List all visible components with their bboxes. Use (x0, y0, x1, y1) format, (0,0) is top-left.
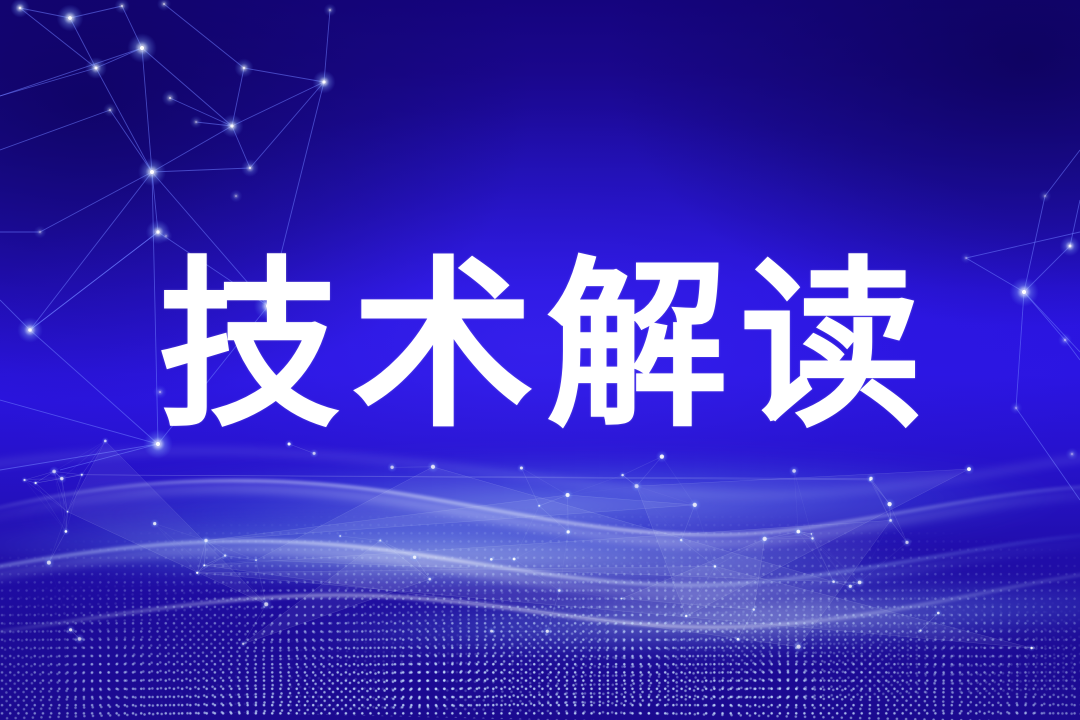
sparkle-point (621, 474, 623, 476)
sparkle-point (47, 561, 51, 565)
sparkle-point (78, 637, 82, 641)
sparkle-point (23, 479, 25, 481)
sparkle-point (546, 630, 549, 633)
sparkle-point (919, 630, 921, 632)
sparkle-point (693, 503, 697, 507)
sparkle-filament (623, 457, 662, 476)
sparkle-point (660, 455, 664, 459)
wave-sparkle-network (0, 420, 1080, 720)
sparkle-point (869, 477, 872, 480)
sparkle-point (224, 554, 226, 556)
sparkle-point (490, 630, 493, 633)
sparkle-point (69, 628, 72, 631)
sparkle-filament (225, 556, 256, 561)
particle-wave (0, 420, 1080, 720)
sparkle-point (67, 511, 69, 513)
sparkle-filament (521, 468, 567, 495)
sparkle-point (490, 558, 493, 561)
sparkle-point (1030, 647, 1032, 649)
sparkle-point (832, 580, 835, 583)
sparkle-point (967, 467, 971, 471)
sparkle-filament (907, 542, 938, 613)
sparkle-triangle (68, 441, 267, 604)
sparkle-point (811, 533, 812, 534)
sparkle-point (566, 493, 570, 497)
sparkle-point (513, 558, 516, 561)
sparkle-point (858, 581, 862, 585)
sparkle-point (937, 612, 940, 615)
sparkle-point (65, 530, 68, 533)
sparkle-point (811, 537, 813, 539)
sparkle-point (567, 530, 570, 533)
wave-sparkle-nodes (21, 437, 1035, 653)
sparkle-point (196, 572, 198, 574)
sparkle-point (153, 522, 156, 525)
sparkle-point (204, 539, 207, 542)
sparkle-point (81, 474, 83, 476)
sparkle-point (680, 539, 682, 541)
sparkle-point (203, 564, 205, 566)
sparkle-point (52, 470, 56, 474)
sparkle-filament (62, 479, 68, 512)
sparkle-point (538, 505, 540, 507)
sparkle-point (390, 466, 393, 469)
sparkle-point (431, 465, 435, 469)
sparkle-filament (568, 486, 637, 495)
sparkle-point (889, 519, 892, 522)
sparkle-point (520, 467, 523, 470)
sparkle-point (413, 556, 416, 559)
sparkle-point (763, 537, 767, 541)
sparkle-point (753, 608, 755, 610)
sparkle-point (635, 484, 639, 488)
sparkle-point (849, 585, 852, 588)
sparkle-point (255, 559, 257, 561)
sparkle-point (60, 477, 63, 480)
sparkle-point (797, 645, 801, 649)
sparkle-point (685, 615, 687, 617)
sparkle-point (264, 602, 268, 606)
sparkle-point (558, 589, 561, 592)
sparkle-point (797, 530, 801, 534)
sparkle-point (621, 598, 623, 600)
banner-title: 技术解读 (146, 255, 934, 437)
sparkle-point (35, 482, 37, 484)
tech-banner: 技术解读 (0, 0, 1080, 720)
sparkle-point (242, 643, 244, 645)
sparkle-point (905, 541, 908, 544)
sparkle-point (339, 535, 341, 537)
sparkle-point (792, 469, 796, 473)
sparkle-point (288, 443, 291, 446)
sparkle-filament (49, 563, 71, 630)
sparkle-point (104, 440, 107, 443)
sparkle-point (888, 502, 892, 506)
sparkle-point (737, 638, 740, 641)
sparkle-point (379, 540, 381, 542)
sparkle-point (429, 578, 432, 581)
sparkle-point (313, 452, 316, 455)
sparkle-point (714, 565, 716, 567)
